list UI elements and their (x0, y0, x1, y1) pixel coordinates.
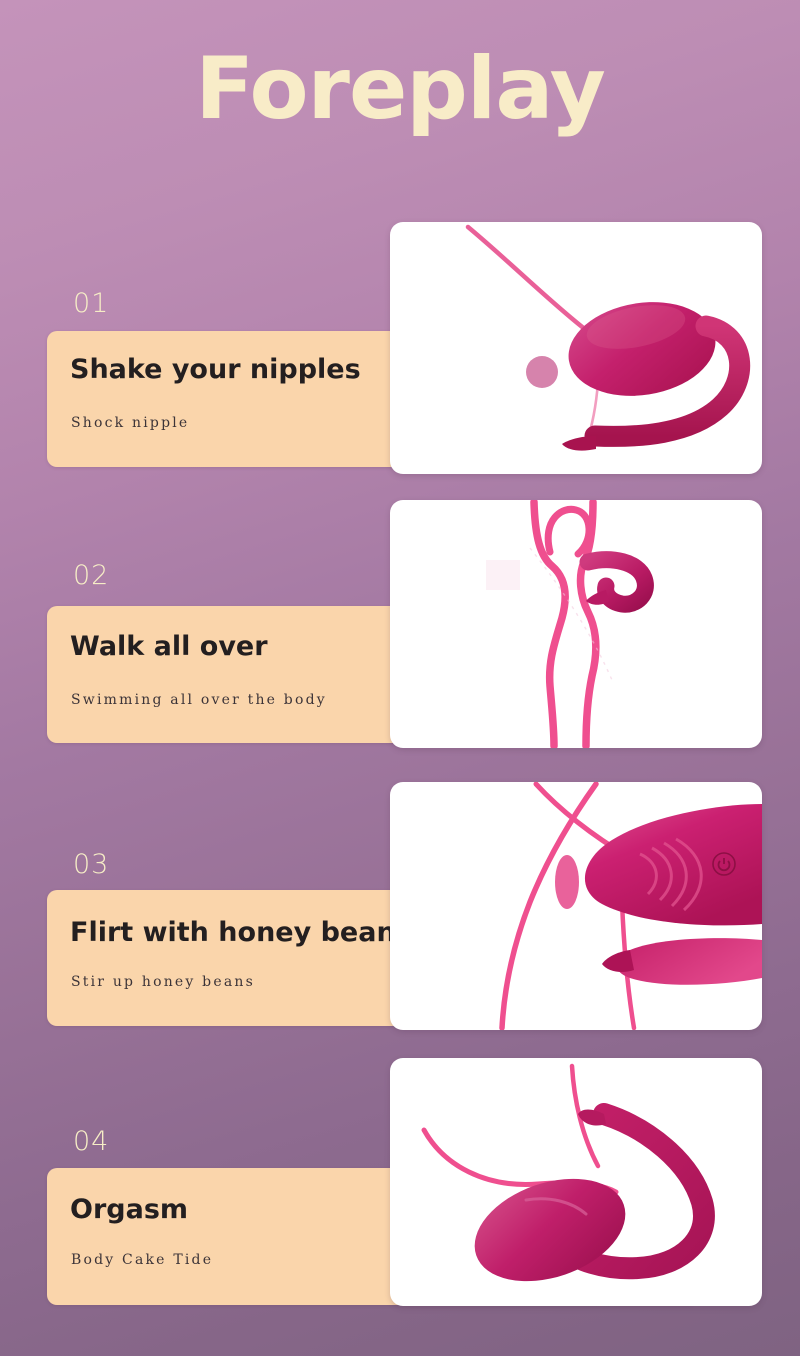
step-image-card-3 (390, 782, 762, 1030)
step-subtitle-2: Swimming all over the body (71, 692, 327, 708)
step-title-2: Walk all over (70, 631, 268, 662)
step-title-1: Shake your nipples (70, 354, 361, 385)
step-title-4: Orgasm (70, 1194, 188, 1225)
step-subtitle-4: Body Cake Tide (71, 1252, 213, 1268)
step-image-card-4 (390, 1058, 762, 1306)
step-number-2: 02 (73, 560, 109, 591)
step-image-card-1 (390, 222, 762, 474)
step-number-1: 01 (73, 288, 109, 319)
infographic-page: Foreplay 01 Shake your nipples Shock nip… (0, 0, 800, 1356)
product-illustration-4 (390, 1058, 762, 1306)
step-number-4: 04 (73, 1126, 109, 1157)
product-illustration-3 (390, 782, 762, 1030)
step-subtitle-3: Stir up honey beans (71, 974, 255, 990)
step-image-card-2 (390, 500, 762, 748)
product-illustration-1 (390, 222, 762, 474)
step-title-3: Flirt with honey beans (70, 917, 412, 948)
step-number-3: 03 (73, 849, 109, 880)
page-title: Foreplay (0, 46, 800, 132)
step-subtitle-1: Shock nipple (71, 415, 189, 431)
product-illustration-2 (390, 500, 762, 748)
